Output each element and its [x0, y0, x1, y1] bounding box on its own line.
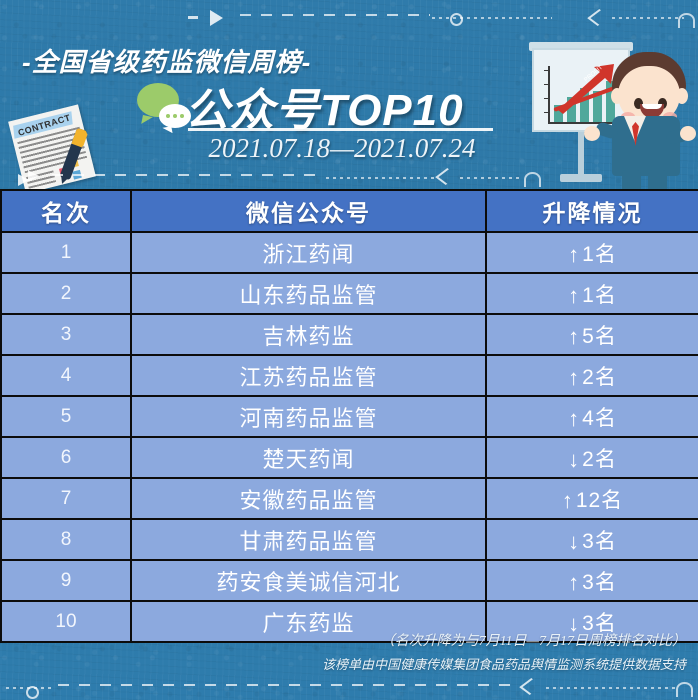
change-value: 1名	[582, 243, 617, 266]
chart-tick	[544, 70, 549, 71]
arrow-up-icon: ↑	[568, 324, 580, 349]
cell-rank: 2	[1, 273, 131, 314]
cell-change: ↓2名	[486, 437, 698, 478]
cell-rank: 6	[1, 437, 131, 478]
chart-tick	[544, 112, 549, 113]
change-value: 5名	[582, 325, 617, 348]
change-value: 1名	[582, 284, 617, 307]
arrow-up-icon: ↑	[568, 242, 580, 267]
chart-y-axis	[548, 66, 550, 124]
table-row: 9药安食美诚信河北↑3名	[1, 560, 698, 601]
cell-account-name: 吉林药监	[131, 314, 486, 355]
swatch-blue	[72, 170, 82, 180]
cell-rank: 3	[1, 314, 131, 355]
table-row: 2山东药品监管↑1名	[1, 273, 698, 314]
change-value: 3名	[582, 571, 617, 594]
cell-account-name: 河南药品监管	[131, 396, 486, 437]
change-value: 12名	[576, 489, 623, 512]
presenter-person-icon	[600, 52, 696, 190]
cell-account-name: 安徽药品监管	[131, 478, 486, 519]
chart-tick	[544, 98, 549, 99]
column-header-change: 升降情况	[486, 190, 698, 232]
board-foot	[560, 174, 602, 182]
table-row: 3吉林药监↑5名	[1, 314, 698, 355]
arrow-down-icon: ↓	[568, 529, 580, 554]
column-header-rank: 名次	[1, 190, 131, 232]
date-range: 2021.07.18—2021.07.24	[192, 133, 492, 164]
cell-rank: 1	[1, 232, 131, 273]
table-row: 4江苏药品监管↑2名	[1, 355, 698, 396]
cell-rank: 7	[1, 478, 131, 519]
change-value: 4名	[582, 407, 617, 430]
cell-change: ↑4名	[486, 396, 698, 437]
cell-rank: 10	[1, 601, 131, 642]
table-header-row: 名次 微信公众号 升降情况	[1, 190, 698, 232]
cell-account-name: 浙江药闻	[131, 232, 486, 273]
table-body: 1浙江药闻↑1名2山东药品监管↑1名3吉林药监↑5名4江苏药品监管↑2名5河南药…	[1, 232, 698, 642]
arrow-up-icon: ↑	[568, 283, 580, 308]
cell-account-name: 甘肃药品监管	[131, 519, 486, 560]
chart-tick	[544, 84, 549, 85]
footer-note: （名次升降为与7月11日—7月17日周榜排名对比）	[256, 630, 686, 650]
cell-change: ↑3名	[486, 560, 698, 601]
table-row: 8甘肃药品监管↓3名	[1, 519, 698, 560]
cell-account-name: 江苏药品监管	[131, 355, 486, 396]
cell-rank: 8	[1, 519, 131, 560]
contract-text-lines-2	[26, 170, 56, 188]
cell-rank: 5	[1, 396, 131, 437]
footer-source: 该榜单由中国健康传媒集团食品药品舆情监测系统提供数据支持	[256, 654, 686, 673]
person-hand-left	[584, 126, 600, 141]
change-value: 2名	[582, 366, 617, 389]
table-row: 1浙江药闻↑1名	[1, 232, 698, 273]
arrow-up-icon: ↑	[568, 570, 580, 595]
cell-rank: 4	[1, 355, 131, 396]
play-triangle-small-icon	[18, 174, 29, 186]
table-row: 6楚天药闻↓2名	[1, 437, 698, 478]
change-value: 2名	[582, 448, 617, 471]
cell-change: ↑1名	[486, 273, 698, 314]
arrow-up-icon: ↑	[568, 365, 580, 390]
title-divider	[188, 128, 493, 131]
column-header-account: 微信公众号	[131, 190, 486, 232]
person-hand-right	[680, 126, 696, 141]
arrow-up-icon: ↑	[568, 406, 580, 431]
contract-document-icon: CONTRACT	[2, 108, 110, 190]
cell-account-name: 楚天药闻	[131, 437, 486, 478]
person-suit	[612, 116, 680, 176]
cell-account-name: 药安食美诚信河北	[131, 560, 486, 601]
arrow-down-icon: ↓	[568, 447, 580, 472]
table-row: 7安徽药品监管↑12名	[1, 478, 698, 519]
table-row: 5河南药品监管↑4名	[1, 396, 698, 437]
change-value: 3名	[582, 530, 617, 553]
cell-change: ↑5名	[486, 314, 698, 355]
ranking-table: 名次 微信公众号 升降情况 1浙江药闻↑1名2山东药品监管↑1名3吉林药监↑5名…	[0, 189, 698, 643]
cell-change: ↑12名	[486, 478, 698, 519]
board-pole	[578, 132, 584, 176]
cell-change: ↑2名	[486, 355, 698, 396]
cell-change: ↑1名	[486, 232, 698, 273]
arrow-up-icon: ↑	[562, 488, 574, 513]
cell-account-name: 山东药品监管	[131, 273, 486, 314]
cell-rank: 9	[1, 560, 131, 601]
cell-change: ↓3名	[486, 519, 698, 560]
